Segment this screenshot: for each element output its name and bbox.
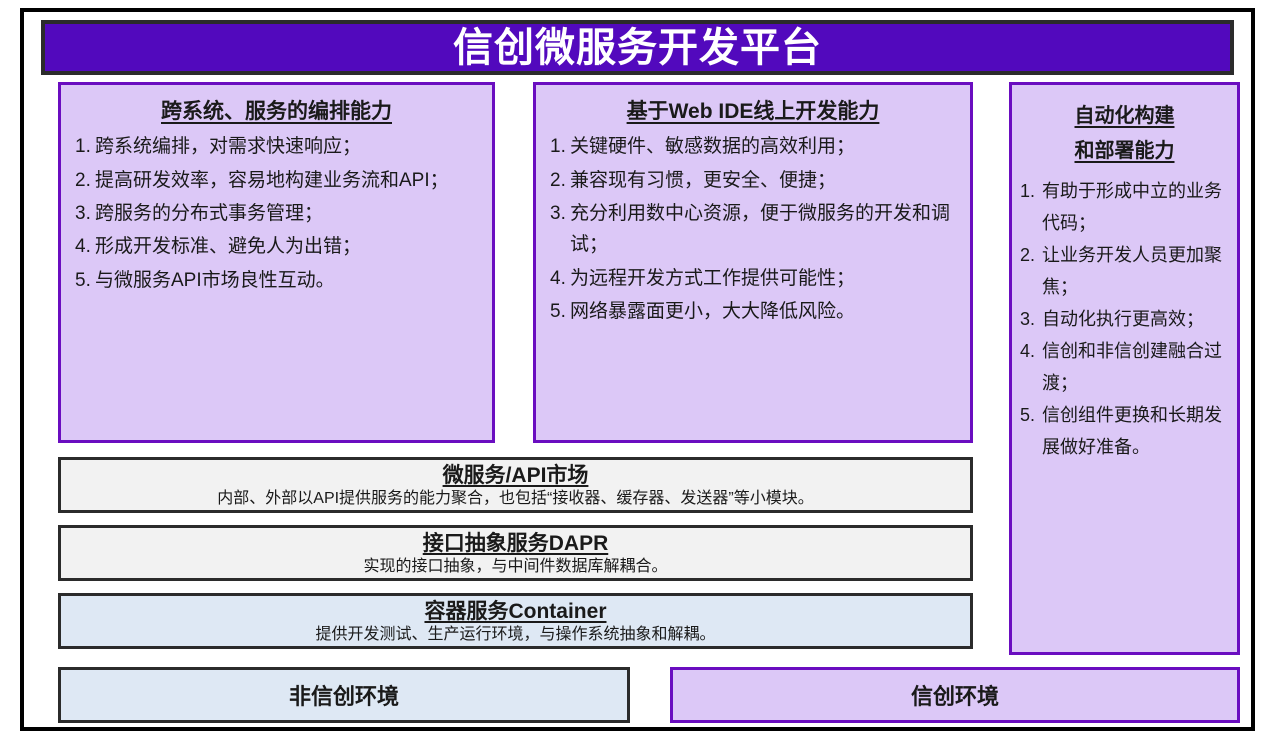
capability-panel-automation[interactable]: 自动化构建 和部署能力 1. 有助于形成中立的业务代码； 2. 让业务开发人员更… bbox=[1009, 82, 1240, 655]
heading-line: 基于Web IDE线上开发能力 bbox=[542, 97, 964, 127]
environment-box-non-xinchuang[interactable]: 非信创环境 bbox=[58, 667, 630, 723]
service-bar-title: 容器服务Container bbox=[61, 599, 970, 624]
list-item-text: 为远程开发方式工作提供可能性； bbox=[570, 263, 970, 294]
heading-line: 和部署能力 bbox=[1018, 134, 1231, 169]
list-item-text: 信创组件更换和长期发展做好准备。 bbox=[1042, 399, 1237, 463]
service-bar-title: 接口抽象服务DAPR bbox=[61, 531, 970, 556]
list-item-text: 有助于形成中立的业务代码； bbox=[1042, 175, 1237, 239]
capability-list: 1. 跨系统编排，对需求快速响应； 2. 提高研发效率，容易地构建业务流和API… bbox=[61, 131, 492, 296]
service-bar-container[interactable]: 容器服务Container 提供开发测试、生产运行环境，与操作系统抽象和解耦。 bbox=[58, 593, 973, 649]
environment-label: 非信创环境 bbox=[289, 679, 399, 711]
list-item-text: 跨系统编排，对需求快速响应； bbox=[95, 131, 492, 162]
list-item-number: 4. bbox=[1012, 335, 1042, 367]
list-item-text: 信创和非信创建融合过渡； bbox=[1042, 335, 1237, 399]
service-bar-subtitle: 提供开发测试、生产运行环境，与操作系统抽象和解耦。 bbox=[61, 625, 970, 646]
list-item-number: 4. bbox=[536, 263, 570, 294]
list-item-text: 形成开发标准、避免人为出错； bbox=[95, 231, 492, 262]
list-item-number: 5. bbox=[536, 296, 570, 327]
list-item: 3. 自动化执行更高效； bbox=[1012, 303, 1237, 335]
capability-panel-heading: 跨系统、服务的编排能力 bbox=[61, 97, 492, 127]
list-item-text: 提高研发效率，容易地构建业务流和API； bbox=[95, 165, 492, 196]
list-item: 1. 关键硬件、敏感数据的高效利用； bbox=[536, 131, 970, 162]
capability-panel-heading: 基于Web IDE线上开发能力 bbox=[536, 97, 970, 127]
environment-box-xinchuang[interactable]: 信创环境 bbox=[670, 667, 1240, 723]
heading-line: 跨系统、服务的编排能力 bbox=[67, 97, 486, 127]
list-item: 2. 提高研发效率，容易地构建业务流和API； bbox=[61, 165, 492, 196]
list-item-number: 1. bbox=[536, 131, 570, 162]
list-item-number: 2. bbox=[1012, 239, 1042, 271]
list-item-text: 让业务开发人员更加聚焦； bbox=[1042, 239, 1237, 303]
list-item: 3. 跨服务的分布式事务管理； bbox=[61, 198, 492, 229]
capability-panel-orchestration[interactable]: 跨系统、服务的编排能力 1. 跨系统编排，对需求快速响应； 2. 提高研发效率，… bbox=[58, 82, 495, 443]
list-item-number: 2. bbox=[536, 165, 570, 196]
capability-list: 1. 关键硬件、敏感数据的高效利用； 2. 兼容现有习惯，更安全、便捷； 3. … bbox=[536, 131, 970, 327]
list-item-text: 关键硬件、敏感数据的高效利用； bbox=[570, 131, 970, 162]
list-item-number: 2. bbox=[61, 165, 95, 196]
list-item-text: 自动化执行更高效； bbox=[1042, 303, 1237, 335]
list-item-number: 5. bbox=[1012, 399, 1042, 431]
service-bar-title: 微服务/API市场 bbox=[61, 463, 970, 488]
list-item: 2. 兼容现有习惯，更安全、便捷； bbox=[536, 165, 970, 196]
list-item-number: 3. bbox=[61, 198, 95, 229]
list-item: 4. 信创和非信创建融合过渡； bbox=[1012, 335, 1237, 399]
page-title: 信创微服务开发平台 bbox=[453, 28, 822, 68]
environment-label: 信创环境 bbox=[911, 679, 999, 711]
list-item-number: 5. bbox=[61, 265, 95, 296]
list-item-number: 3. bbox=[1012, 303, 1042, 335]
list-item: 2. 让业务开发人员更加聚焦； bbox=[1012, 239, 1237, 303]
list-item-text: 跨服务的分布式事务管理； bbox=[95, 198, 492, 229]
capability-panel-web-ide[interactable]: 基于Web IDE线上开发能力 1. 关键硬件、敏感数据的高效利用； 2. 兼容… bbox=[533, 82, 973, 443]
service-bar-subtitle: 实现的接口抽象，与中间件数据库解耦合。 bbox=[61, 557, 970, 578]
list-item-number: 1. bbox=[1012, 175, 1042, 207]
list-item: 5. 信创组件更换和长期发展做好准备。 bbox=[1012, 399, 1237, 463]
list-item-number: 4. bbox=[61, 231, 95, 262]
service-bar-dapr[interactable]: 接口抽象服务DAPR 实现的接口抽象，与中间件数据库解耦合。 bbox=[58, 525, 973, 581]
capability-panel-heading: 自动化构建 和部署能力 bbox=[1012, 99, 1237, 169]
list-item: 4. 为远程开发方式工作提供可能性； bbox=[536, 263, 970, 294]
platform-title-banner: 信创微服务开发平台 bbox=[41, 20, 1234, 75]
list-item: 1. 跨系统编排，对需求快速响应； bbox=[61, 131, 492, 162]
list-item: 5. 网络暴露面更小，大大降低风险。 bbox=[536, 296, 970, 327]
list-item-text: 与微服务API市场良性互动。 bbox=[95, 265, 492, 296]
list-item-text: 充分利用数中心资源，便于微服务的开发和调试； bbox=[570, 198, 970, 261]
list-item: 3. 充分利用数中心资源，便于微服务的开发和调试； bbox=[536, 198, 970, 261]
list-item-number: 3. bbox=[536, 198, 570, 229]
list-item: 5. 与微服务API市场良性互动。 bbox=[61, 265, 492, 296]
heading-line: 自动化构建 bbox=[1018, 99, 1231, 134]
list-item-text: 兼容现有习惯，更安全、便捷； bbox=[570, 165, 970, 196]
list-item-text: 网络暴露面更小，大大降低风险。 bbox=[570, 296, 970, 327]
service-bar-api-market[interactable]: 微服务/API市场 内部、外部以API提供服务的能力聚合，也包括“接收器、缓存器… bbox=[58, 457, 973, 513]
service-bar-subtitle: 内部、外部以API提供服务的能力聚合，也包括“接收器、缓存器、发送器”等小模块。 bbox=[61, 489, 970, 510]
list-item-number: 1. bbox=[61, 131, 95, 162]
list-item: 1. 有助于形成中立的业务代码； bbox=[1012, 175, 1237, 239]
capability-list: 1. 有助于形成中立的业务代码； 2. 让业务开发人员更加聚焦； 3. 自动化执… bbox=[1012, 175, 1237, 463]
slide-canvas: 信创微服务开发平台 跨系统、服务的编排能力 1. 跨系统编排，对需求快速响应； … bbox=[0, 0, 1263, 739]
list-item: 4. 形成开发标准、避免人为出错； bbox=[61, 231, 492, 262]
